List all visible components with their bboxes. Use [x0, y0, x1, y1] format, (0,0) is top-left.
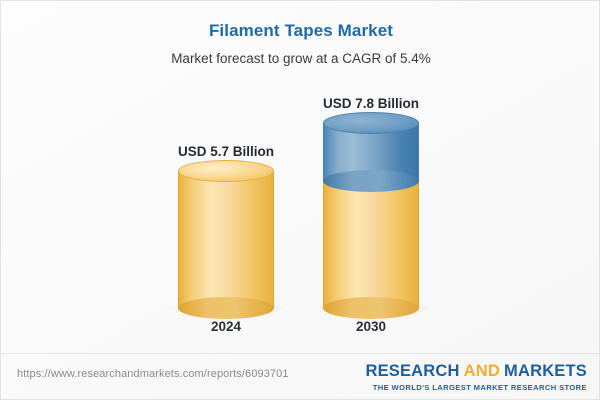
footer: https://www.researchandmarkets.com/repor…	[1, 354, 600, 400]
bar-bottom-ellipse-2030	[323, 297, 419, 319]
bar-body-2024	[178, 171, 274, 308]
chart-plot-area: USD 5.7 Billion 2024 USD 7.8 Billion	[1, 1, 600, 353]
brand-logo-wordmark: RESEARCHANDMARKETS	[365, 362, 587, 380]
bar-value-label-2024: USD 5.7 Billion	[136, 144, 316, 159]
report-url[interactable]: https://www.researchandmarkets.com/repor…	[17, 368, 289, 380]
bar-top-ellipse-2024	[178, 160, 274, 182]
brand-logo-word-markets: MARKETS	[504, 362, 587, 380]
bar-category-label-2030: 2030	[281, 319, 461, 334]
bar-segment-base-2030	[323, 181, 419, 308]
bar-bottom-ellipse-2024	[178, 297, 274, 319]
bar-top-ellipse-2030	[323, 112, 419, 134]
brand-logo[interactable]: RESEARCHANDMARKETS THE WORLD'S LARGEST M…	[365, 362, 587, 393]
brand-logo-word-and: AND	[464, 362, 500, 380]
bar-segment-divider-ellipse-2030	[323, 170, 419, 192]
brand-logo-tagline: THE WORLD'S LARGEST MARKET RESEARCH STOR…	[365, 382, 587, 393]
bar-value-label-2030: USD 7.8 Billion	[281, 96, 461, 111]
bar-cylinder-2024[interactable]	[178, 171, 274, 308]
chart-card: Filament Tapes Market Market forecast to…	[0, 0, 600, 400]
brand-logo-word-research: RESEARCH	[365, 362, 459, 380]
bar-cylinder-2030[interactable]	[323, 123, 419, 308]
